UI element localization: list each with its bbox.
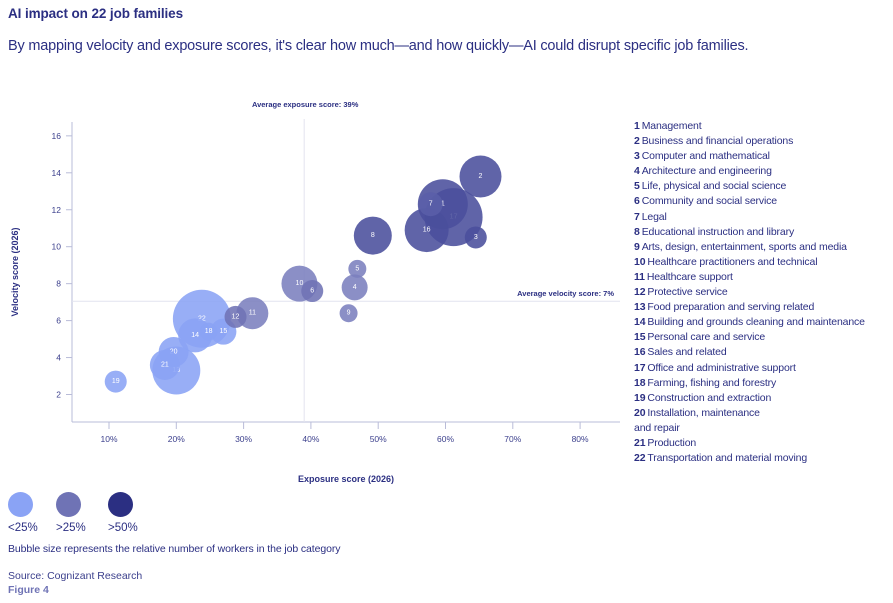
legend-item-number: 16 [634,346,645,358]
legend-item-18[interactable]: 18Farming, fishing and forestry [634,376,892,391]
bubble-2[interactable]: 2 [459,155,501,197]
legend-swatch-label: >50% [108,522,138,534]
y-axis-tick-label: 12 [52,205,62,215]
job-family-legend: 1Management2Business and financial opera… [634,119,892,466]
legend-item-number: 1 [634,120,640,132]
swatch-row: <25%>25%>50% [8,492,408,522]
legend-item-label: Construction and extraction [647,392,771,404]
legend-item-3[interactable]: 3Computer and mathematical [634,149,892,164]
legend-item-label: Production [647,437,696,449]
legend-item-8[interactable]: 8Educational instruction and library [634,225,892,240]
y-axis-tick-label: 16 [52,131,62,141]
legend-item-number: 21 [634,437,645,449]
legend-item-10[interactable]: 10Healthcare practitioners and technical [634,255,892,270]
bubble-circle[interactable] [459,155,501,197]
legend-item-label: Healthcare support [647,271,733,283]
legend-item-number: 5 [634,180,640,192]
bubble-circle[interactable] [340,304,358,322]
legend-item-label: Building and grounds cleaning and mainte… [647,316,864,328]
bubble-circle[interactable] [354,217,392,255]
legend-item-7[interactable]: 7Legal [634,210,892,225]
x-axis-tick-label: 50% [370,434,387,444]
legend-item-number: 14 [634,316,645,328]
legend-item-label: Life, physical and social science [642,180,786,192]
bubble-circle[interactable] [348,260,366,278]
legend-item-1[interactable]: 1Management [634,119,892,134]
legend-item-12[interactable]: 12Protective service [634,285,892,300]
figure-label: Figure 4 [8,584,49,596]
legend-item-label: Transportation and material moving [647,452,807,464]
legend-item-number: 22 [634,452,645,464]
legend-item-6[interactable]: 6Community and social service [634,194,892,209]
bubble-circle[interactable] [301,280,323,302]
bubble-21[interactable]: 21 [150,350,180,380]
legend-item-number: 4 [634,165,640,177]
legend-swatch-1 [8,492,33,517]
bubble-9[interactable]: 9 [340,304,358,322]
legend-item-19[interactable]: 19Construction and extraction [634,391,892,406]
legend-item-number: 6 [634,195,640,207]
legend-item-label: Educational instruction and library [642,226,794,238]
legend-item-label: Architecture and engineering [642,165,772,177]
bubble-circle[interactable] [150,350,180,380]
legend-swatch-2 [56,492,81,517]
legend-item-label: Management [642,120,702,132]
legend-item-label: Office and administrative support [647,362,795,374]
legend-item-label: Healthcare practitioners and technical [647,256,817,268]
bubble-circle[interactable] [200,323,218,341]
x-axis-tick-label: 10% [100,434,117,444]
legend-swatch-label: >25% [56,522,86,534]
legend-item-number: 12 [634,286,645,298]
y-axis-tick-label: 8 [56,279,61,289]
chart-bubbles[interactable]: 17221131628101411202141573612195918 [105,155,502,394]
legend-item-number: 19 [634,392,645,404]
average-exposure-annotation: Average exposure score: 39% [252,100,359,109]
legend-item-label: Sales and related [647,346,726,358]
legend-item-22[interactable]: 22Transportation and material moving [634,451,892,466]
legend-item-4[interactable]: 4Architecture and engineering [634,164,892,179]
y-axis-tick-label: 4 [56,353,61,363]
legend-item-number: 8 [634,226,640,238]
bubble-6[interactable]: 6 [301,280,323,302]
legend-item-15[interactable]: 15Personal care and service [634,330,892,345]
legend-item-9[interactable]: 9Arts, design, entertainment, sports and… [634,240,892,255]
legend-item-number: 15 [634,331,645,343]
legend-item-number: 20 [634,407,645,419]
y-axis-tick-label: 10 [52,242,62,252]
x-axis-tick-label: 70% [504,434,521,444]
y-axis-title: Velocity score (2026) [10,227,20,316]
average-velocity-annotation: Average velocity score: 7% [517,289,614,298]
bubble-circle[interactable] [465,226,487,248]
legend-item-label: Arts, design, entertainment, sports and … [642,241,847,253]
x-axis-title: Exposure score (2026) [298,474,394,484]
y-axis-tick-label: 2 [56,390,61,400]
bubble-3[interactable]: 3 [465,226,487,248]
y-axis-tick-label: 14 [52,168,62,178]
legend-item-11[interactable]: 11Healthcare support [634,270,892,285]
bubble-circle[interactable] [419,192,443,216]
legend-item-5[interactable]: 5Life, physical and social science [634,179,892,194]
chart-axes: 24681012141610%20%30%40%50%60%70%80% [52,122,620,444]
x-axis-tick-label: 30% [235,434,252,444]
legend-item-20[interactable]: 20Installation, maintenance [634,406,892,421]
legend-item-label: Installation, maintenance [647,407,759,419]
x-axis-tick-label: 60% [437,434,454,444]
y-axis-tick-label: 6 [56,316,61,326]
legend-item-label: Farming, fishing and forestry [647,377,776,389]
bubble-size-note: Bubble size represents the relative numb… [8,543,340,555]
color-size-legend: <25%>25%>50% [8,492,408,522]
bubble-19[interactable]: 19 [105,371,127,393]
legend-swatch-label: <25% [8,522,38,534]
legend-item-label: Legal [642,211,667,223]
bubble-circle[interactable] [105,371,127,393]
legend-swatch-3 [108,492,133,517]
legend-item-number: 17 [634,362,645,374]
bubble-4[interactable]: 4 [342,274,368,300]
x-axis-tick-label: 80% [572,434,589,444]
bubble-7[interactable]: 7 [419,192,443,216]
legend-item-number: 2 [634,135,640,147]
bubble-circle[interactable] [225,306,247,328]
legend-item-label: Protective service [647,286,727,298]
legend-item-13[interactable]: 13Food preparation and serving related [634,300,892,315]
legend-item-number: 9 [634,241,640,253]
bubble-5[interactable]: 5 [348,260,366,278]
legend-item-label: Community and social service [642,195,777,207]
x-axis-tick-label: 40% [302,434,319,444]
x-axis-tick-label: 20% [168,434,185,444]
legend-item-14[interactable]: 14Building and grounds cleaning and main… [634,315,892,330]
legend-item-label: Business and financial operations [642,135,793,147]
legend-item-number: 3 [634,150,640,162]
legend-item-number: 13 [634,301,645,313]
legend-item-number: 10 [634,256,645,268]
bubble-12[interactable]: 12 [225,306,247,328]
legend-item-number: 7 [634,211,640,223]
bubble-circle[interactable] [342,274,368,300]
legend-item-number: 11 [634,271,645,283]
bubble-8[interactable]: 8 [354,217,392,255]
source-label: Source: Cognizant Research [8,570,142,582]
legend-item-label: Personal care and service [647,331,765,343]
legend-item-number: 18 [634,377,645,389]
chart-axis-titles: Exposure score (2026)Velocity score (202… [10,227,394,484]
legend-item-21[interactable]: 21Production [634,436,892,451]
legend-item-label: Food preparation and serving related [647,301,814,313]
legend-item-16[interactable]: 16Sales and related [634,345,892,360]
legend-item-2[interactable]: 2Business and financial operations [634,134,892,149]
bubble-18[interactable]: 18 [200,323,218,341]
legend-item-label: Computer and mathematical [642,150,770,162]
legend-item-17[interactable]: 17Office and administrative support [634,361,892,376]
legend-item-continuation: and repair [634,421,892,436]
